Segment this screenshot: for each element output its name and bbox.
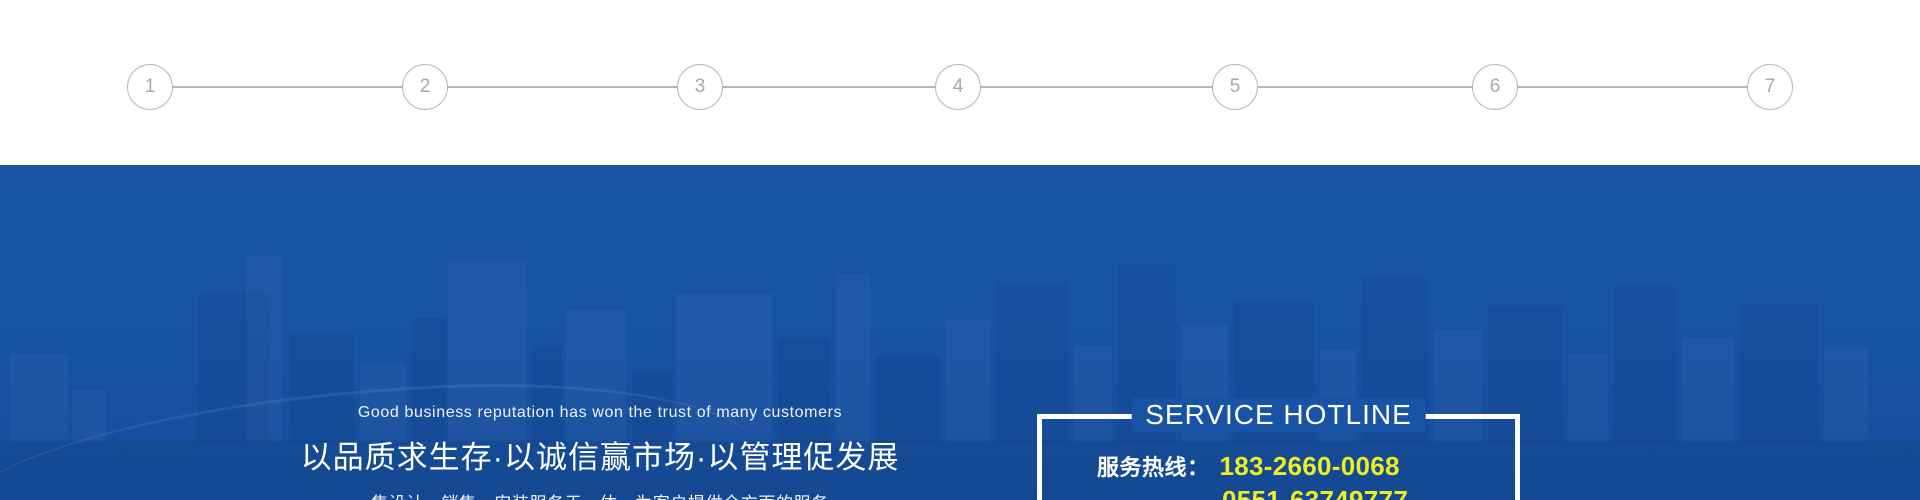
service-hotline-box: SERVICE HOTLINE 服务热线： 183-2660-0068 0551… (1037, 414, 1520, 500)
hotline-number-mobile[interactable]: 183-2660-0068 (1220, 449, 1400, 483)
step-label: 4 (953, 76, 964, 98)
blue-banner: Good business reputation has won the tru… (0, 165, 1920, 500)
hotline-number-list: 服务热线： 183-2660-0068 0551-63749777 (1042, 449, 1515, 500)
slogan-block: Good business reputation has won the tru… (300, 405, 900, 500)
step-circle-3[interactable]: 3 (677, 64, 723, 110)
step-circle-7[interactable]: 7 (1747, 64, 1793, 110)
hotline-label: 服务热线： (1097, 453, 1210, 482)
page-root: 1 2 3 4 5 6 7 (0, 0, 1920, 500)
slogan-english: Good business reputation has won the tru… (300, 405, 900, 421)
hotline-row-secondary: 0551-63749777 (1042, 483, 1515, 500)
hotline-number-landline[interactable]: 0551-63749777 (1222, 483, 1408, 500)
step-circle-2[interactable]: 2 (402, 64, 448, 110)
step-circle-6[interactable]: 6 (1472, 64, 1518, 110)
slogan-chinese-sub: 集设计、销售、安装服务于一体，为客户提供全方面的服务 (300, 495, 900, 500)
step-label: 5 (1230, 76, 1241, 98)
step-label: 7 (1765, 76, 1776, 98)
banner-color-overlay (0, 165, 1920, 500)
service-hotline-title: SERVICE HOTLINE (1131, 398, 1426, 432)
step-label: 1 (145, 76, 156, 98)
step-circle-5[interactable]: 5 (1212, 64, 1258, 110)
step-label: 2 (420, 76, 431, 98)
hotline-row-primary: 服务热线： 183-2660-0068 (1042, 449, 1515, 483)
slogan-chinese-main: 以品质求生存·以诚信赢市场·以管理促发展 (300, 442, 900, 473)
step-label: 3 (695, 76, 706, 98)
pagination-strip: 1 2 3 4 5 6 7 (0, 0, 1920, 165)
step-circle-4[interactable]: 4 (935, 64, 981, 110)
step-circle-1[interactable]: 1 (127, 64, 173, 110)
step-label: 6 (1490, 76, 1501, 98)
